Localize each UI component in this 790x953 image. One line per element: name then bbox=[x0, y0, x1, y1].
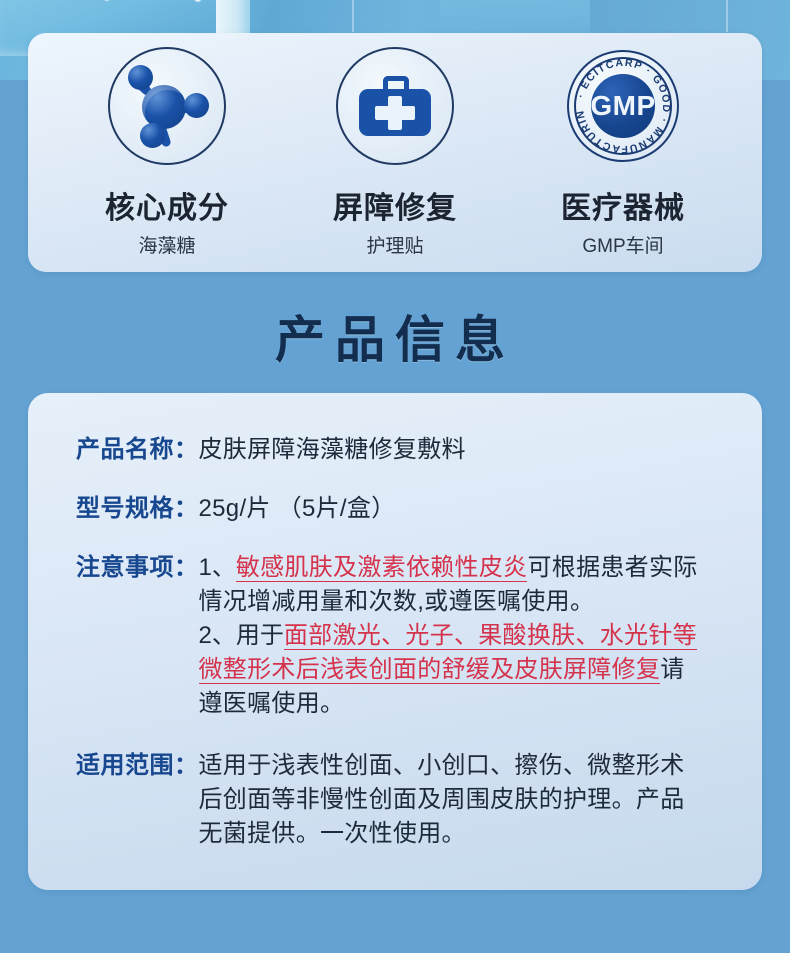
molecule-icon-ring bbox=[108, 47, 226, 165]
info-label: 注意事项： bbox=[76, 551, 199, 585]
info-value: 25g/片 （5片/盒） bbox=[199, 492, 396, 526]
photo-secondary-box bbox=[440, 0, 590, 36]
photo-edge-line-1 bbox=[352, 0, 354, 32]
gmp-seal-icon: · ECITCARP · GOOD · MANUFACTURING GMP bbox=[567, 50, 679, 162]
info-value: 皮肤屏障海藻糖修复敷料 bbox=[199, 433, 466, 467]
feature-core-ingredient: 核心成分 海藻糖 bbox=[62, 47, 272, 258]
feature-title: 核心成分 bbox=[105, 183, 229, 227]
feature-title: 医疗器械 bbox=[561, 183, 685, 227]
info-label: 产品名称： bbox=[76, 433, 199, 467]
feature-medical-device: · ECITCARP · GOOD · MANUFACTURING GMP 医疗… bbox=[518, 47, 728, 258]
feature-barrier-repair: 屏障修复 护理贴 bbox=[290, 47, 500, 258]
precaution-2-prefix: 2、用于 bbox=[199, 622, 284, 649]
info-row-model-spec: 型号规格： 25g/片 （5片/盒） bbox=[76, 492, 732, 526]
seal-center-label: GMP bbox=[591, 74, 655, 138]
feature-subtitle: GMP车间 bbox=[582, 231, 663, 258]
info-row-precautions: 注意事项： 1、敏感肌肤及激素依赖性皮炎可根据患者实际情况增减用量和次数,或遵医… bbox=[76, 551, 732, 721]
page-title: 产品信息 bbox=[0, 300, 790, 372]
medical-kit-icon-ring bbox=[336, 47, 454, 165]
info-label: 型号规格： bbox=[76, 492, 199, 526]
feature-title: 屏障修复 bbox=[333, 183, 457, 227]
info-label: 适用范围： bbox=[76, 749, 199, 783]
feature-subtitle: 护理贴 bbox=[366, 231, 423, 258]
photo-text-blur bbox=[86, 0, 216, 18]
feature-highlights-card: 核心成分 海藻糖 屏障修复 护理贴 bbox=[28, 33, 762, 272]
product-info-card: 产品名称： 皮肤屏障海藻糖修复敷料 型号规格： 25g/片 （5片/盒） 注意事… bbox=[28, 393, 762, 890]
feature-subtitle: 海藻糖 bbox=[138, 231, 195, 258]
molecule-atom-upper-left bbox=[128, 65, 153, 90]
info-value: 1、敏感肌肤及激素依赖性皮炎可根据患者实际情况增减用量和次数,或遵医嘱使用。 2… bbox=[199, 551, 707, 721]
kit-cross-horizontal bbox=[375, 106, 415, 120]
molecule-atom-lower-left bbox=[140, 123, 165, 148]
gmp-seal-icon-ring: · ECITCARP · GOOD · MANUFACTURING GMP bbox=[564, 47, 682, 165]
info-value: 适用于浅表性创面、小创口、擦伤、微整形术后创面等非慢性创面及周围皮肤的护理。产品… bbox=[199, 749, 699, 851]
molecule-icon bbox=[124, 63, 210, 149]
info-row-scope: 适用范围： 适用于浅表性创面、小创口、擦伤、微整形术后创面等非慢性创面及周围皮肤… bbox=[76, 749, 732, 851]
molecule-atom-right bbox=[184, 93, 209, 118]
info-row-product-name: 产品名称： 皮肤屏障海藻糖修复敷料 bbox=[76, 433, 732, 467]
precaution-1-highlight: 敏感肌肤及激素依赖性皮炎 bbox=[236, 554, 528, 582]
photo-edge-line-2 bbox=[726, 0, 728, 32]
precaution-1-prefix: 1、 bbox=[199, 554, 236, 581]
medical-kit-icon bbox=[359, 76, 431, 136]
